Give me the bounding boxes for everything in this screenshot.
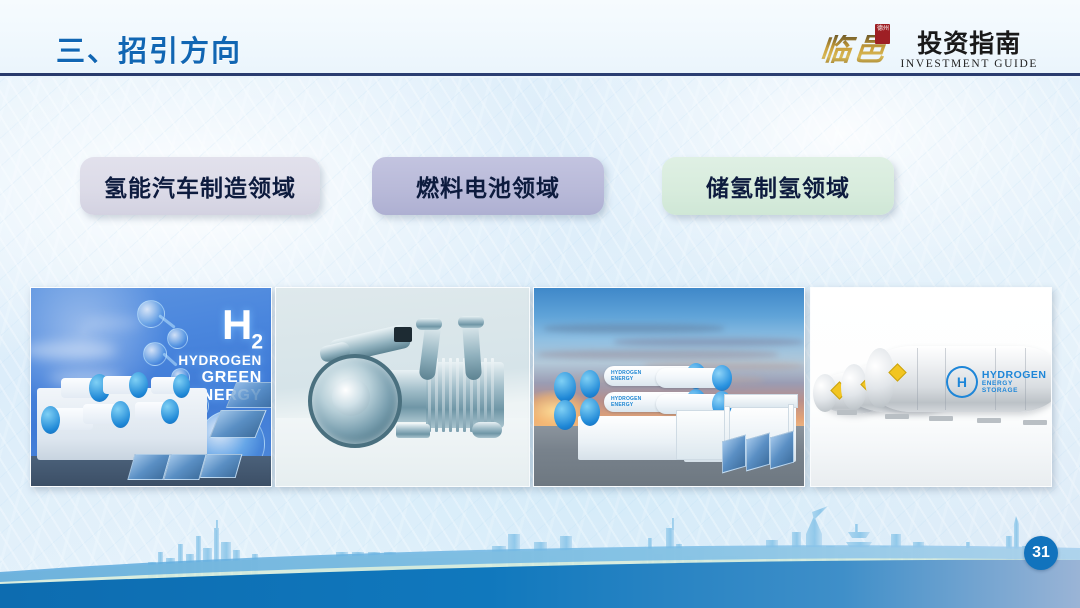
category-pill-label: 氢能汽车制造领域 <box>104 169 296 203</box>
category-pill-fuel-cell[interactable]: 燃料电池领域 <box>372 157 604 215</box>
photo-hydrogen-green-energy: H2 HYDROGEN GREEN ENERGY <box>30 287 272 487</box>
page-number-badge: 31 <box>1024 536 1058 570</box>
slide-header: 三、招引方向 临邑 德州 投资指南 INVESTMENT GUIDE <box>0 0 1080 76</box>
photo4-brand-logo: H HYDROGEN ENERGY STORAGE <box>946 366 1051 398</box>
category-pill-hydrogen-storage[interactable]: 储氢制氢领域 <box>662 157 894 215</box>
footer-graphic <box>0 488 1080 608</box>
photo-hydrogen-tube-trailer: HYDROGENENERGY HYDROGENENERGY <box>533 287 805 487</box>
header-divider <box>0 73 1080 76</box>
brand-title-en: INVESTMENT GUIDE <box>900 58 1038 70</box>
brand-title-group: 投资指南 INVESTMENT GUIDE <box>900 31 1038 70</box>
photo-hydrogen-storage-tanks: H HYDROGEN ENERGY STORAGE <box>810 287 1052 487</box>
slide-root: 三、招引方向 临邑 德州 投资指南 INVESTMENT GUIDE 氢能汽车制… <box>0 0 1080 608</box>
category-pill-label: 燃料电池领域 <box>416 169 560 203</box>
photo1-h2-label: H2 <box>178 304 262 352</box>
photo4-logo-line2: ENERGY STORAGE <box>982 381 1051 395</box>
photo1-line-hydrogen: HYDROGEN <box>178 354 262 368</box>
brand-mark: 临邑 德州 <box>820 30 888 70</box>
brand-seal-icon: 德州 <box>875 24 890 44</box>
brand-title-cn: 投资指南 <box>917 31 1021 57</box>
category-pill-hydrogen-vehicle[interactable]: 氢能汽车制造领域 <box>80 157 320 215</box>
brand-logo: 临邑 德州 投资指南 INVESTMENT GUIDE <box>820 18 1038 70</box>
category-pill-label: 储氢制氢领域 <box>706 169 850 203</box>
photo4-h2-icon: H <box>946 366 978 398</box>
photo-fuel-cell-engine <box>275 287 530 487</box>
slide-footer: 31 <box>0 488 1080 608</box>
page-title: 三、招引方向 <box>56 28 242 70</box>
